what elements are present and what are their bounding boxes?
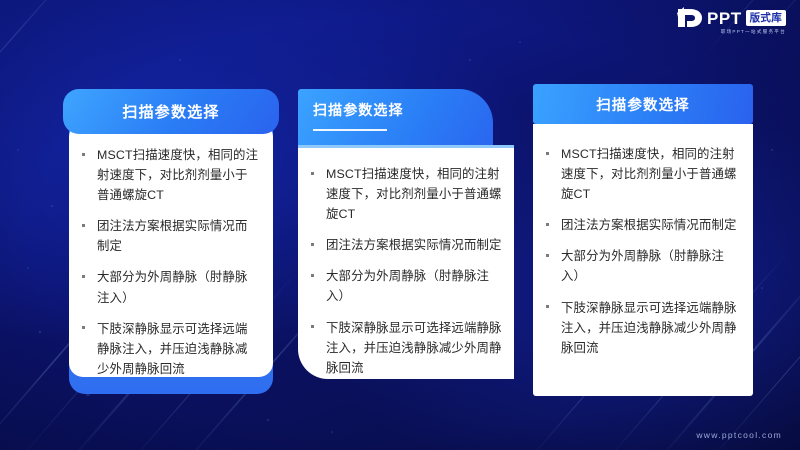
card-3[interactable]: MSCT扫描速度快，相同的注射速度下，对比剂剂量小于普通螺旋CT 团注法方案根据… [533,84,753,396]
list-item: 下肢深静脉显示可选择远端静脉注入，并压迫浅静脉减少外周静脉回流 [544,298,740,358]
card-2[interactable]: MSCT扫描速度快，相同的注射速度下，对比剂剂量小于普通螺旋CT 团注法方案根据… [298,89,514,394]
list-item: 团注法方案根据实际情况而制定 [309,235,502,255]
card-3-bullet-list: MSCT扫描速度快，相同的注射速度下，对比剂剂量小于普通螺旋CT 团注法方案根据… [544,144,740,358]
card-3-title: 扫描参数选择 [596,94,690,115]
list-item: 团注法方案根据实际情况而制定 [80,216,260,256]
card-2-divider [298,145,514,148]
card-3-header: 扫描参数选择 [533,84,753,124]
card-1[interactable]: MSCT扫描速度快，相同的注射速度下，对比剂剂量小于普通螺旋CT 团注法方案根据… [63,89,279,394]
list-item: 下肢深静脉显示可选择远端静脉注入，并压迫浅静脉减少外周静脉回流 [80,319,260,379]
card-1-header: 扫描参数选择 [63,89,279,134]
list-item: 下肢深静脉显示可选择远端静脉注入，并压迫浅静脉减少外周静脉回流 [309,318,502,378]
card-3-body: MSCT扫描速度快，相同的注射速度下，对比剂剂量小于普通螺旋CT 团注法方案根据… [533,124,753,396]
list-item: 大部分为外周静脉（肘静脉注入） [80,267,260,307]
card-1-body: MSCT扫描速度快，相同的注射速度下，对比剂剂量小于普通螺旋CT 团注法方案根据… [69,123,273,377]
card-2-header: 扫描参数选择 [298,89,493,147]
card-2-body: MSCT扫描速度快，相同的注射速度下，对比剂剂量小于普通螺旋CT 团注法方案根据… [298,147,514,379]
list-item: MSCT扫描速度快，相同的注射速度下，对比剂剂量小于普通螺旋CT [309,164,502,224]
card-2-bullet-list: MSCT扫描速度快，相同的注射速度下，对比剂剂量小于普通螺旋CT 团注法方案根据… [309,164,502,378]
list-item: 团注法方案根据实际情况而制定 [544,215,740,235]
list-item: 大部分为外周静脉（肘静脉注入） [309,266,502,306]
list-item: 大部分为外周静脉（肘静脉注入） [544,246,740,286]
card-1-bullet-list: MSCT扫描速度快，相同的注射速度下，对比剂剂量小于普通螺旋CT 团注法方案根据… [80,145,260,379]
list-item: MSCT扫描速度快，相同的注射速度下，对比剂剂量小于普通螺旋CT [544,144,740,204]
card-1-title: 扫描参数选择 [122,101,219,122]
list-item: MSCT扫描速度快，相同的注射速度下，对比剂剂量小于普通螺旋CT [80,145,260,205]
cards-row: MSCT扫描速度快，相同的注射速度下，对比剂剂量小于普通螺旋CT 团注法方案根据… [0,0,800,450]
card-2-title: 扫描参数选择 [313,100,493,120]
footer-watermark: www.pptcool.com [696,430,782,440]
card-2-title-underline [313,129,387,131]
